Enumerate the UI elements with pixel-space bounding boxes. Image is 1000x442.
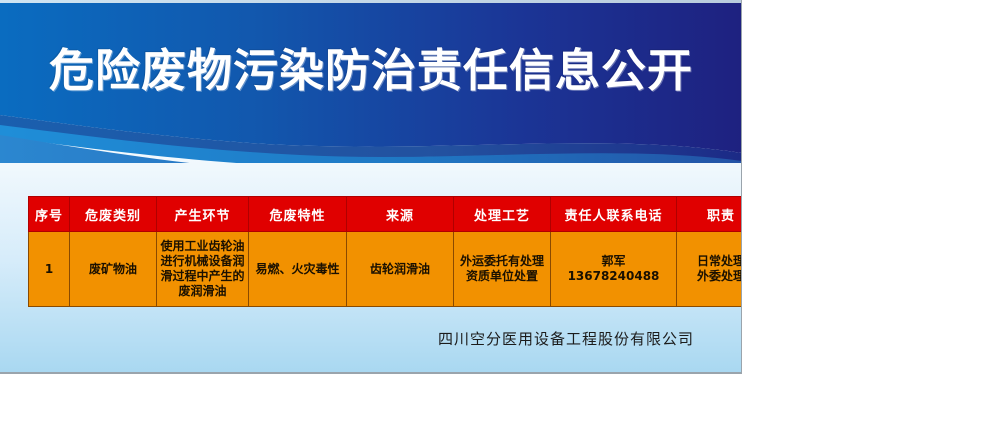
column-header-generation-stage: 产生环节 [157, 197, 249, 232]
table-row: 1 废矿物油 使用工业齿轮油进行机械设备润滑过程中产生的废润滑油 易燃、火灾毒性… [29, 232, 743, 307]
cell-source: 齿轮润滑油 [347, 232, 454, 307]
cell-duty: 日常处理 外委处理 [677, 232, 743, 307]
column-header-treatment-process: 处理工艺 [454, 197, 551, 232]
company-name: 四川空分医用设备工程股份有限公司 [28, 328, 712, 349]
column-header-source: 来源 [347, 197, 454, 232]
poster-container: 危险废物污染防治责任信息公开 序号 危废类别 产生环节 危废特性 来源 处理工艺… [0, 0, 742, 374]
column-header-index: 序号 [29, 197, 70, 232]
hazardous-waste-table: 序号 危废类别 产生环节 危废特性 来源 处理工艺 责任人联系电话 职责 1 废… [28, 196, 742, 307]
table-header-row: 序号 危废类别 产生环节 危废特性 来源 处理工艺 责任人联系电话 职责 [29, 197, 743, 232]
page-title: 危险废物污染防治责任信息公开 [0, 48, 742, 93]
column-header-contact-phone: 责任人联系电话 [551, 197, 677, 232]
cell-contact-phone: 郭军 13678240488 [551, 232, 677, 307]
column-header-category: 危废类别 [70, 197, 157, 232]
column-header-hazard-property: 危废特性 [249, 197, 347, 232]
cell-hazard-property: 易燃、火灾毒性 [249, 232, 347, 307]
cell-treatment-process: 外运委托有处理资质单位处置 [454, 232, 551, 307]
column-header-duty: 职责 [677, 197, 743, 232]
cell-category: 废矿物油 [70, 232, 157, 307]
cell-generation-stage: 使用工业齿轮油进行机械设备润滑过程中产生的废润滑油 [157, 232, 249, 307]
cell-index: 1 [29, 232, 70, 307]
